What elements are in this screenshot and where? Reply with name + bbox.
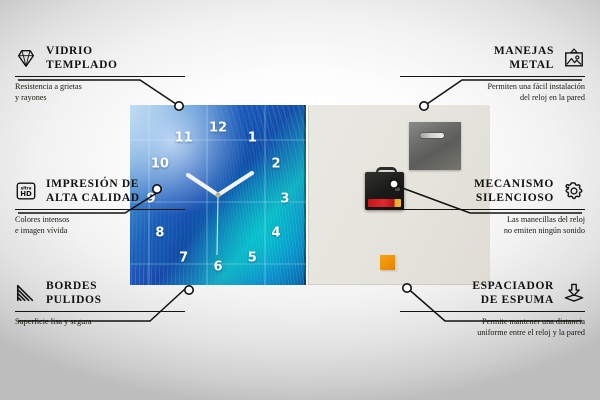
callout-description: Permiten una fácil instalación del reloj… xyxy=(400,81,585,104)
callout-description: Permite mantener una distancia uniforme … xyxy=(400,316,585,339)
callout-description: Colores intensos e imagen vívida xyxy=(15,214,185,237)
callout-description: Las manecillas del reloj no emiten ningú… xyxy=(400,214,585,237)
callout-rule xyxy=(15,311,185,312)
foam-spacer-edge xyxy=(395,257,399,272)
callout-title: ESPACIADOR DE ESPUMA xyxy=(472,279,554,307)
callout-espaciador-de-espuma[interactable]: ESPACIADOR DE ESPUMA Permite mantener un… xyxy=(400,279,585,339)
gear-icon xyxy=(563,180,585,202)
callout-rule xyxy=(400,311,585,312)
battery xyxy=(368,199,401,207)
diamond-icon xyxy=(15,47,37,69)
callout-rule xyxy=(400,76,585,77)
picture-hanger-icon xyxy=(563,47,585,69)
infographic-canvas: 12 1 2 3 4 5 6 7 8 9 10 11 xyxy=(0,0,600,400)
callout-vidrio-templado[interactable]: VIDRIO TEMPLADO Resistencia a grietas y … xyxy=(15,44,185,104)
callout-bordes-pulidos[interactable]: BORDES PULIDOS Superficie lisa y segura xyxy=(15,279,185,327)
callout-rule xyxy=(400,209,585,210)
clock-mechanism xyxy=(365,172,404,210)
hanger-slot xyxy=(420,133,444,138)
callout-mecanismo-silencioso[interactable]: MECANISMO SILENCIOSO Las manecillas del … xyxy=(400,177,585,237)
callout-impresion-alta-calidad[interactable]: ultra HD IMPRESIÓN DE ALTA CALIDAD Color… xyxy=(15,177,185,237)
callout-title: MECANISMO SILENCIOSO xyxy=(474,177,554,205)
callout-dot-bordes xyxy=(185,286,193,294)
hanger-plate xyxy=(409,122,461,170)
callout-rule xyxy=(15,209,185,210)
callout-description: Resistencia a grietas y rayones xyxy=(15,81,185,104)
foam-spacer xyxy=(380,255,395,270)
polished-edges-icon xyxy=(15,282,37,304)
callout-title: IMPRESIÓN DE ALTA CALIDAD xyxy=(46,177,140,205)
callout-rule xyxy=(15,76,185,77)
callout-description: Superficie lisa y segura xyxy=(15,316,185,328)
callout-title: BORDES PULIDOS xyxy=(46,279,102,307)
foam-spacer-icon xyxy=(563,282,585,304)
callout-manejas-metal[interactable]: MANEJAS METAL Permiten una fácil instala… xyxy=(400,44,585,104)
callout-title: MANEJAS METAL xyxy=(494,44,554,72)
ultra-hd-icon: ultra HD xyxy=(15,180,37,202)
callout-title: VIDRIO TEMPLADO xyxy=(46,44,118,72)
svg-text:HD: HD xyxy=(20,190,32,198)
